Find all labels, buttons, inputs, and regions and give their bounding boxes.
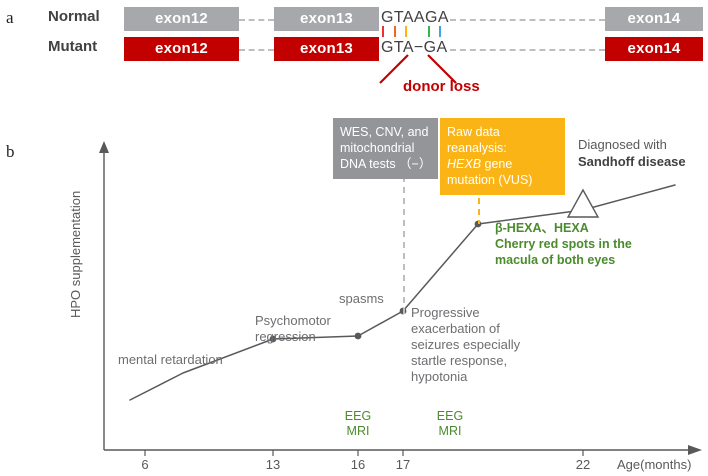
callout-wes-cnv-line2: mitochondrial [340,140,431,156]
test-17m-eeg: EEG [430,409,470,424]
callout-raw-data-line2: HEXB gene [447,156,558,172]
xtick-label-6: 6 [125,457,165,472]
diagnosis-triangle-marker [568,190,598,217]
exon-box-mutant-exon14: exon14 [605,37,703,61]
xtick-label-16: 16 [338,457,378,472]
diagnosis-text: Diagnosed with Sandhoff disease [578,136,686,170]
intron-line-normal-1 [239,19,274,21]
event-progressive-line1: Progressive [411,305,520,321]
callout-raw-data-reanalysis[interactable]: Raw data reanalysis: HEXB gene mutation … [440,118,565,195]
callout-wes-cnv-line1: WES, CNV, and [340,124,431,140]
xtick-label-13: 13 [253,457,293,472]
sequence-tick-g2 [428,26,430,37]
row-label-mutant: Mutant [48,38,97,55]
test-16m-eeg: EEG [338,409,378,424]
test-label-17m: EEG MRI [430,409,470,439]
xtick-label-22: 22 [563,457,603,472]
exon-box-normal-exon14: exon14 [605,7,703,31]
panel-a-letter: a [6,8,14,28]
connector-dashed-gray [401,176,407,316]
callout-wes-cnv-line3: DNA tests （−） [340,156,431,172]
sequence-tick-a2 [439,26,441,37]
exon-box-mutant-exon12: exon12 [124,37,239,61]
green-note-line1: β-HEXA、HEXA [495,220,632,236]
sequence-tick-t [394,26,396,37]
x-axis-label: Age(months) [617,457,691,472]
intron-line-mutant-1 [239,49,274,51]
event-progressive-line3: seizures especially [411,337,520,353]
event-progressive-line2: exacerbation of [411,321,520,337]
callout-raw-data-line3: mutation (VUS) [447,172,558,188]
exon-box-normal-exon12: exon12 [124,7,239,31]
diagnosis-line2: Sandhoff disease [578,154,686,169]
event-psychomotor-line2: regression [255,329,331,345]
row-label-normal: Normal [48,8,100,25]
panel-b-letter: b [6,142,15,162]
intron-line-normal-2 [450,19,605,21]
event-psychomotor-regression: Psychomotor regression [255,313,331,345]
sequence-tick-a1 [405,26,407,37]
sequence-normal: GTAAGA [381,9,449,27]
event-progressive-line5: hypotonia [411,369,520,385]
event-psychomotor-line1: Psychomotor [255,313,331,329]
event-mental-retardation: mental retardation [118,352,223,368]
green-note-line2: Cherry red spots in the [495,236,632,252]
diagnosis-line1: Diagnosed with [578,136,686,153]
test-label-16m: EEG MRI [338,409,378,439]
callout-raw-data-line1: Raw data reanalysis: [447,124,558,156]
exon-box-normal-exon13: exon13 [274,7,379,31]
y-axis-label: HPO supplementation [68,191,83,318]
event-progressive-exacerbation: Progressive exacerbation of seizures esp… [411,305,520,385]
event-spasms: spasms [339,291,384,307]
green-clinical-note: β-HEXA、HEXA Cherry red spots in the macu… [495,220,632,268]
gene-name-hexb: HEXB [447,157,481,171]
green-note-line3: macula of both eyes [495,252,632,268]
sequence-tick-g1 [382,26,384,37]
test-16m-mri: MRI [338,424,378,439]
callout-wes-cnv[interactable]: WES, CNV, and mitochondrial DNA tests （−… [333,118,438,179]
xtick-label-17: 17 [383,457,423,472]
donor-loss-label: donor loss [403,78,480,95]
sequence-tick-group [381,26,456,37]
event-progressive-line4: startle response, [411,353,520,369]
intron-line-mutant-2 [450,49,605,51]
progression-curve [90,135,708,465]
curve-point-16m [355,333,362,340]
test-17m-mri: MRI [430,424,470,439]
